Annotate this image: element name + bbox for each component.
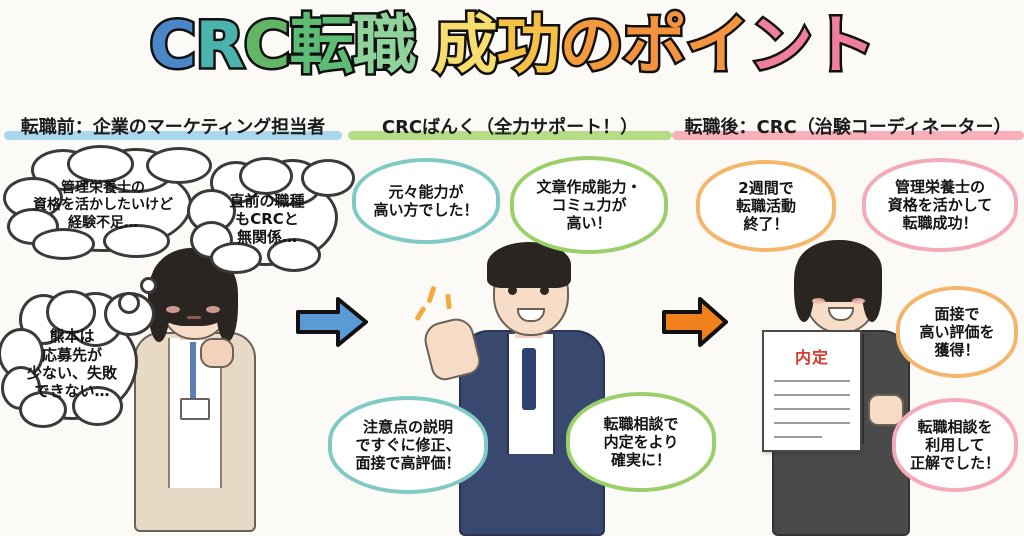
bubble-advisor-praise-1: 元々能力が 高い方でした！	[352, 158, 500, 244]
person-after-eye-left	[819, 286, 828, 295]
thought-dot-large	[118, 292, 140, 314]
person-after-hair-side-right	[862, 260, 882, 322]
bubble-left-concern-1-text: 管理栄養士の 資格を活かしたいけど 経験不足…	[33, 180, 173, 231]
person-after-eye-right	[850, 286, 859, 295]
thought-dot-small	[140, 277, 157, 294]
title-char-11: ン	[749, 14, 812, 78]
bubble-advisor-support-1: 注意点の説明 ですぐに修正、 面接で高評価！	[328, 396, 488, 494]
offer-letter-document: 内定	[762, 330, 862, 452]
cloud-puff	[32, 228, 95, 260]
document-line	[774, 436, 822, 438]
bubble-after-result-2: 管理栄養士の 資格を活かして 転職成功！	[862, 158, 1018, 252]
person-before-eye-left	[173, 294, 181, 303]
title-char-0: C	[149, 14, 195, 78]
arrow-left-to-middle-icon	[296, 296, 368, 348]
person-before-hand	[200, 338, 234, 368]
document-line	[774, 394, 851, 396]
sparkle-accent-2	[445, 294, 452, 309]
sparkle-accent-1	[426, 286, 436, 304]
bubble-after-result-2-text: 管理栄養士の 資格を活かして 転職成功！	[888, 178, 993, 233]
title-char-9: ポ	[623, 14, 686, 78]
bubble-after-result-4: 転職相談を 利用して 正解でした！	[892, 398, 1018, 492]
person-before-blush-right	[206, 306, 220, 313]
person-advisor-eye-right	[540, 286, 549, 295]
person-after-blush-right	[852, 298, 865, 304]
bubble-left-concern-2-text: 直前の職種 もCRCと 無関係…	[229, 192, 304, 247]
document-line	[774, 422, 851, 424]
bubble-left-concern-3: 熊本は 応募先が 少ない、失敗 できない…	[6, 308, 138, 420]
document-line	[774, 380, 851, 382]
cloud-puff	[67, 145, 134, 182]
bubble-after-result-3: 面接で 高い評価を 獲得！	[896, 286, 1018, 378]
section-header-before-label: 転職前：企業のマーケティング担当者	[21, 117, 326, 138]
bubble-advisor-support-1-text: 注意点の説明 ですぐに修正、 面接で高評価！	[355, 418, 460, 473]
section-header-service: CRCばんく（全力サポート！）	[352, 113, 668, 139]
person-after-hair-side-left	[794, 260, 814, 322]
title-char-6: 成	[434, 14, 497, 78]
person-before-eye-right	[205, 294, 213, 303]
title-char-5	[416, 14, 434, 78]
person-before-id-card	[180, 398, 210, 420]
infographic-canvas: CRC転職 成功のポイント 転職前：企業のマーケティング担当者 CRCばんく（全…	[0, 0, 1024, 532]
bubble-after-result-4-text: 転職相談を 利用して 正解でした！	[910, 418, 1000, 473]
section-header-after: 転職後：CRC（治験コーディネーター）	[676, 113, 1020, 139]
bubble-advisor-praise-1-text: 元々能力が 高い方でした！	[373, 183, 478, 220]
title-char-2: C	[244, 14, 290, 78]
bubble-advisor-support-2: 転職相談で 内定をより 確実に！	[566, 392, 716, 492]
section-header-after-label: 転職後：CRC（治験コーディネーター）	[684, 117, 1011, 138]
title-char-10: イ	[686, 14, 749, 78]
bubble-left-concern-3-text: 熊本は 応募先が 少ない、失敗 できない…	[27, 327, 117, 400]
title-char-12: ト	[812, 14, 875, 78]
bubble-advisor-support-2-text: 転職相談で 内定をより 確実に！	[603, 415, 678, 470]
cloud-puff	[301, 159, 355, 197]
bubble-left-concern-2: 直前の職種 もCRCと 無関係…	[196, 172, 338, 266]
arrow-middle-to-right-icon	[662, 296, 728, 348]
person-advisor-eye-left	[508, 286, 517, 295]
person-after-blush-left	[812, 298, 825, 304]
bubble-advisor-praise-2-text: 文章作成能力・ コミュ力が 高い！	[536, 178, 641, 233]
title-char-4: 職	[353, 14, 416, 78]
bubble-advisor-praise-2: 文章作成能力・ コミュ力が 高い！	[510, 156, 668, 254]
title-char-1: R	[195, 14, 243, 78]
bubble-after-result-3-text: 面接で 高い評価を 獲得！	[919, 305, 994, 360]
person-before-blush-left	[166, 306, 180, 313]
title-char-3: 転	[290, 14, 353, 78]
sparkle-accent-3	[414, 306, 426, 321]
cloud-puff	[239, 157, 293, 195]
person-before-mouth	[187, 316, 201, 319]
person-advisor-illustration	[455, 238, 605, 532]
section-header-before: 転職前：企業のマーケティング担当者	[8, 113, 338, 139]
bubble-left-concern-1: 管理栄養士の 資格を活かしたいけど 経験不足…	[14, 160, 192, 252]
document-line	[774, 408, 851, 410]
title-char-8: の	[560, 14, 623, 78]
person-advisor-necktie	[522, 348, 536, 410]
person-before-lanyard	[190, 342, 196, 400]
section-header-service-label: CRCばんく（全力サポート！）	[382, 117, 638, 138]
bubble-after-result-1: 2週間で 転職活動 終了！	[696, 160, 836, 252]
title-char-7: 功	[497, 14, 560, 78]
bubble-after-result-1-text: 2週間で 転職活動 終了！	[736, 179, 796, 234]
page-title: CRC転職 成功のポイント	[0, 14, 1024, 78]
offer-letter-label: 内定	[764, 344, 860, 368]
